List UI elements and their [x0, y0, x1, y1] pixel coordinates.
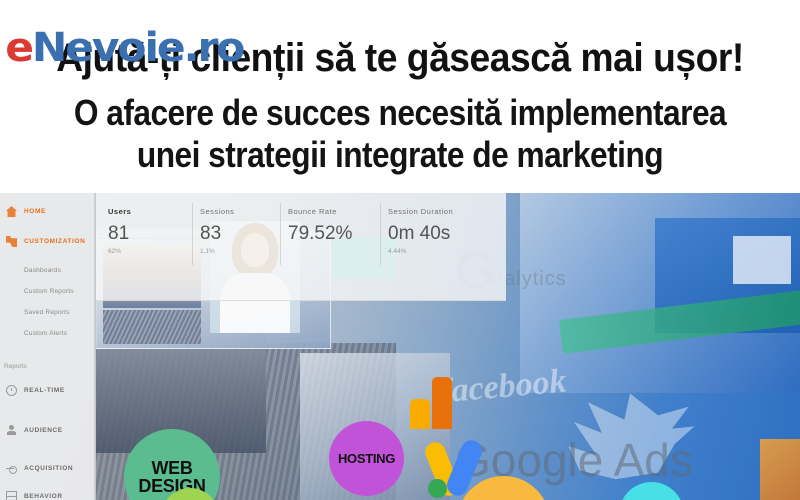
screenshot-crowd [103, 310, 201, 344]
site-logo-watermark: eNevoie.ro [5, 28, 243, 68]
linkedin-icon [733, 236, 791, 284]
acquisition-icon [6, 463, 17, 474]
analytics-bar-1 [410, 399, 430, 429]
grid-icon [6, 491, 17, 500]
sidebar-item-real-time[interactable]: REAL-TIME [6, 385, 65, 396]
metric-label: Session Duration [388, 207, 453, 216]
metric-session-duration: Session Duration 0m 40s 4.44% [388, 207, 453, 255]
logo-letter-e: e [5, 25, 32, 71]
subtitle-line-2: unei strategii integrate de marketing [48, 134, 752, 176]
metric-bounce-rate: Bounce Rate 79.52% [288, 207, 352, 248]
sidebar-item-label: BEHAVIOR [24, 493, 63, 500]
metric-sessions: Sessions 83 1.1% [200, 207, 234, 255]
sidebar-item-label: AUDIENCE [24, 427, 63, 434]
sidebar-item-acquisition[interactable]: ACQUISITION [6, 463, 73, 474]
analytics-metrics-card: Users 81 62% Sessions 83 1.1% Bounce Rat… [96, 193, 506, 301]
logo-wordmark: Nevoie.ro [32, 25, 243, 71]
sidebar-item-home[interactable]: HOME [6, 206, 46, 217]
sidebar-item-label: REAL-TIME [24, 387, 65, 394]
metric-label: Users [108, 207, 131, 216]
sidebar-item-label: ACQUISITION [24, 465, 73, 472]
sidebar-item-customization[interactable]: CUSTOMIZATION [6, 236, 85, 247]
person-icon [6, 425, 17, 436]
home-icon [6, 206, 17, 217]
metric-delta: 62% [108, 248, 131, 255]
sidebar-item-saved-reports[interactable]: Saved Reports [24, 309, 70, 316]
customization-icon [6, 236, 17, 247]
metric-value: 79.52% [288, 223, 352, 245]
google-ads-logo-green [428, 479, 447, 498]
sidebar-item-behavior[interactable]: BEHAVIOR [6, 491, 63, 500]
metric-value: 81 [108, 223, 131, 245]
sidebar-item-label: HOME [24, 208, 46, 215]
facebook-wordmark: facebook [439, 363, 568, 412]
hero-collage-image: Linkedin G nalytics facebook Google Ads [0, 193, 800, 500]
sidebar-item-custom-reports[interactable]: Custom Reports [24, 288, 74, 295]
metric-label: Sessions [200, 207, 234, 216]
analytics-bar-2 [432, 377, 452, 429]
sidebar-item-dashboards[interactable]: Dashboards [24, 267, 61, 274]
metric-users: Users 81 62% [108, 207, 131, 255]
metric-label: Bounce Rate [288, 207, 352, 216]
sidebar-item-label: CUSTOMIZATION [24, 238, 85, 245]
sidebar-item-custom-alerts[interactable]: Custom Alerts [24, 330, 67, 337]
clock-icon [6, 385, 17, 396]
analytics-sidebar: HOME CUSTOMIZATION Dashboards Custom Rep… [0, 193, 95, 500]
bubble-hosting[interactable]: HOSTING [329, 421, 404, 496]
metric-value: 0m 40s [388, 223, 453, 245]
bg-tile-orange-card [760, 439, 800, 500]
metric-divider [380, 203, 381, 265]
metric-divider [192, 203, 193, 265]
metric-divider [280, 203, 281, 265]
poster-root: eNevoie.ro Ajută-ți clienții să te găsea… [0, 0, 800, 500]
metric-value: 83 [200, 223, 234, 245]
subtitle-line-1: O afacere de succes necesită implementar… [48, 92, 752, 134]
sidebar-section-reports: Reports [4, 363, 27, 370]
metric-delta: 1.1% [200, 248, 234, 255]
header-block: eNevoie.ro Ajută-ți clienții să te găsea… [0, 0, 800, 193]
metric-delta: 4.44% [388, 248, 453, 255]
sidebar-item-audience[interactable]: AUDIENCE [6, 425, 63, 436]
